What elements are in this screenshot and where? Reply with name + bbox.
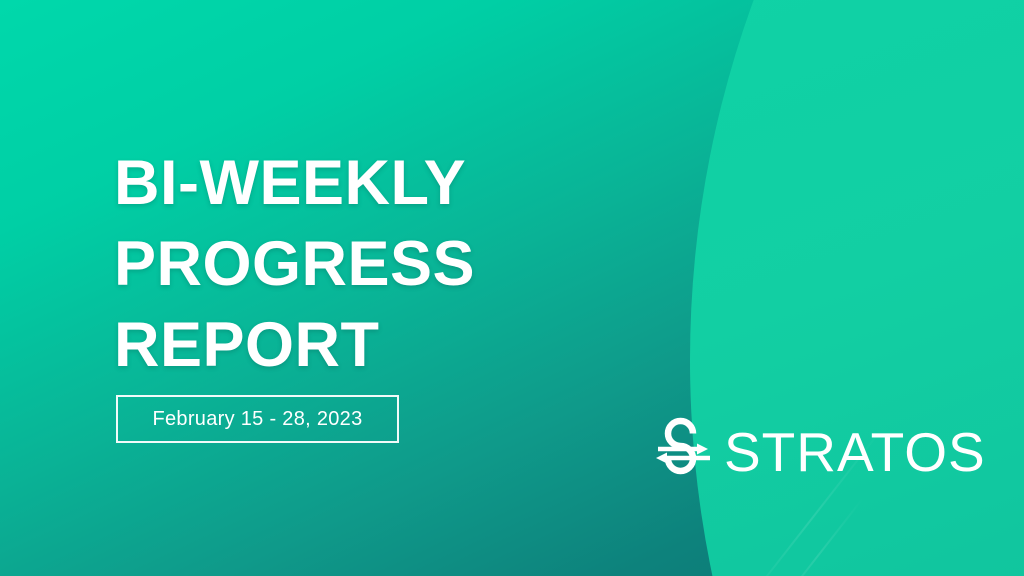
date-range-badge: February 15 - 28, 2023	[116, 395, 399, 443]
title-line-2: PROGRESS	[114, 224, 475, 305]
page-title: BI-WEEKLY PROGRESS REPORT	[114, 143, 475, 386]
stratos-s-monogram-icon	[652, 416, 716, 488]
swoosh-shape	[690, 0, 1024, 576]
title-line-3: REPORT	[114, 305, 475, 386]
light-streak-icon	[770, 497, 864, 576]
date-range-label: February 15 - 28, 2023	[152, 408, 362, 431]
title-line-1: BI-WEEKLY	[114, 143, 475, 224]
brand-logo: STRATOS	[652, 416, 986, 488]
report-cover-slide: BI-WEEKLY PROGRESS REPORT February 15 - …	[0, 0, 1024, 576]
brand-wordmark: STRATOS	[724, 425, 986, 480]
swoosh-sheen	[690, 0, 1024, 576]
